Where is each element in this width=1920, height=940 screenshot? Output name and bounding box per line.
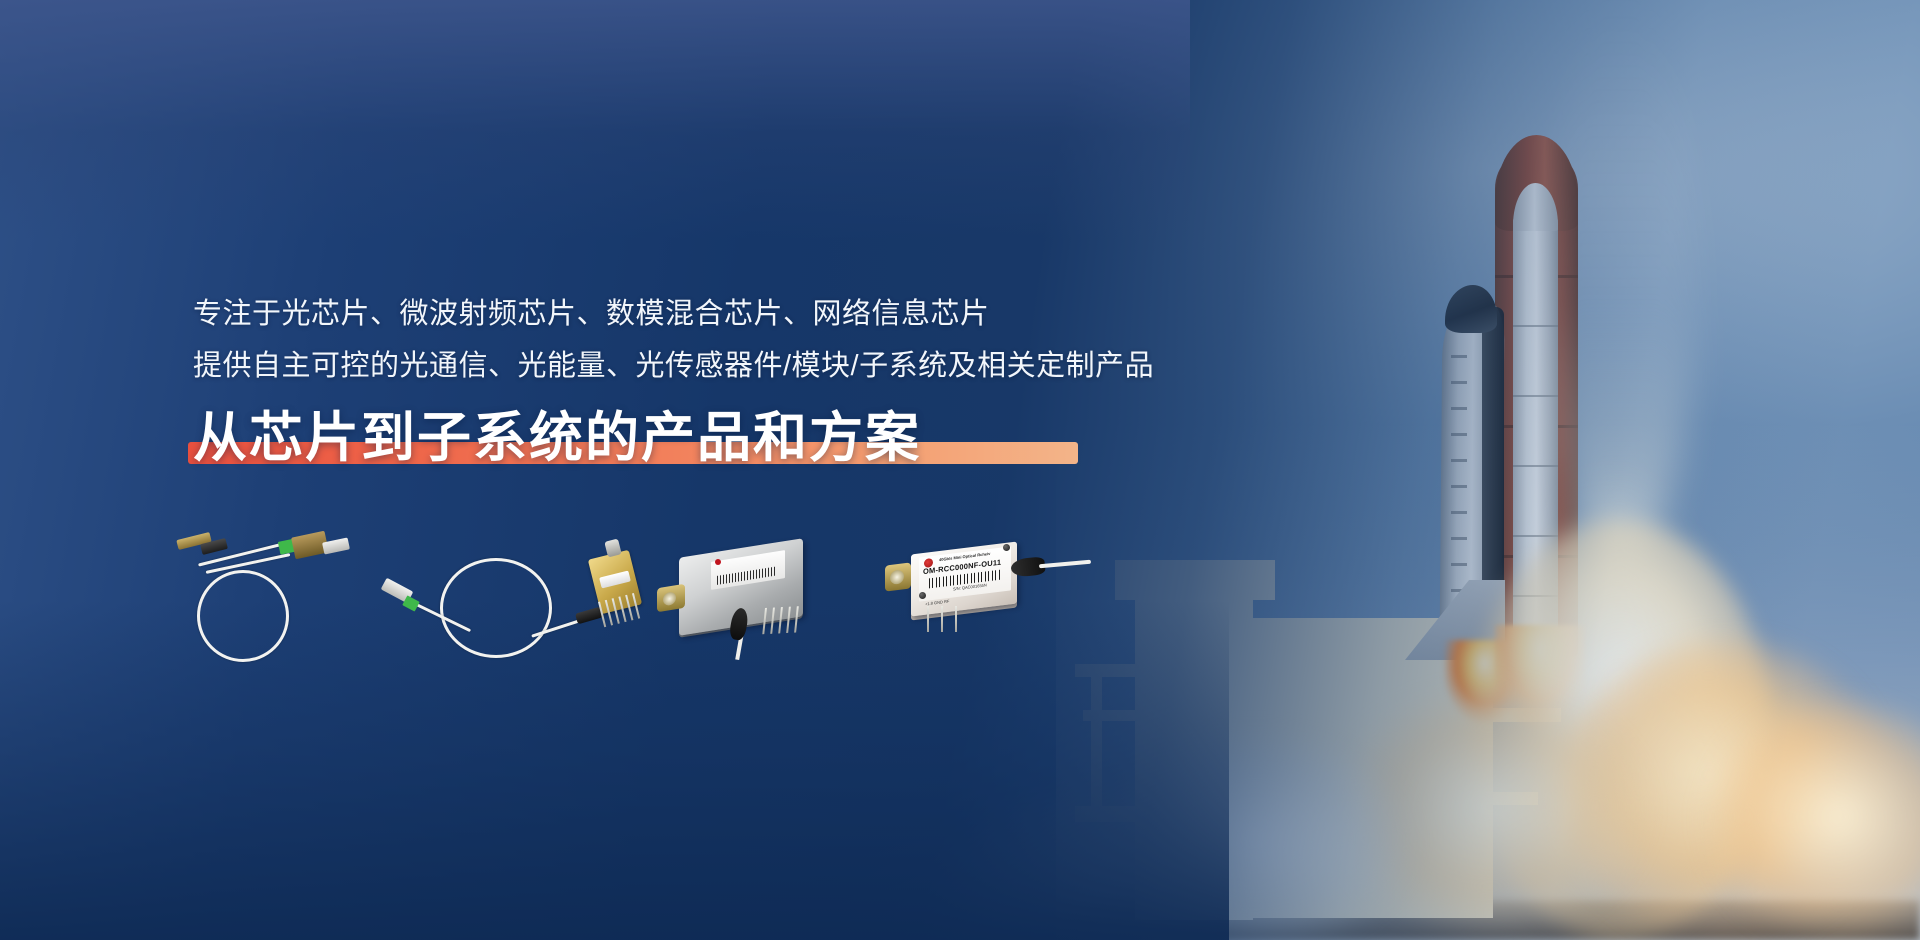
fiber-output-icon bbox=[1039, 560, 1091, 569]
green-apc-icon bbox=[402, 595, 420, 611]
black-boot-icon bbox=[575, 607, 603, 625]
product-strip: 40Gb/s Mini Optical Rcheiv OM-RCC000NF-O… bbox=[175, 528, 1075, 668]
hero-subline-1: 专注于光芯片、微波射频芯片、数模混合芯片、网络信息芯片 bbox=[193, 288, 1193, 340]
overlay-top-shade bbox=[0, 0, 1190, 240]
hero-banner: 专注于光芯片、微波射频芯片、数模混合芯片、网络信息芯片 提供自主可控的光通信、光… bbox=[0, 0, 1920, 940]
rf-port-icon bbox=[604, 539, 621, 558]
hero-subline-2: 提供自主可控的光通信、光能量、光传感器件/模块/子系统及相关定制产品 bbox=[193, 340, 1193, 392]
product-pigtailed-butterfly-laser bbox=[380, 536, 630, 668]
hero-headline-wrap: 从芯片到子系统的产品和方案 bbox=[193, 406, 921, 470]
hero-headline: 从芯片到子系统的产品和方案 bbox=[193, 406, 921, 470]
brand-dot-icon bbox=[715, 559, 721, 565]
screw-icon bbox=[919, 592, 926, 599]
screw-icon bbox=[1003, 544, 1010, 551]
sma-connector-icon bbox=[657, 584, 685, 612]
product-mini-optical-receiver: 40Gb/s Mini Optical Rcheiv OM-RCC000NF-O… bbox=[875, 534, 1085, 664]
hero-copy: 专注于光芯片、微波射频芯片、数模混合芯片、网络信息芯片 提供自主可控的光通信、光… bbox=[193, 288, 1193, 470]
product-rf-metal-module-box bbox=[653, 542, 843, 662]
sma-connector-icon bbox=[885, 562, 911, 591]
product-fiber-pigtail-fc-connector bbox=[175, 528, 365, 668]
